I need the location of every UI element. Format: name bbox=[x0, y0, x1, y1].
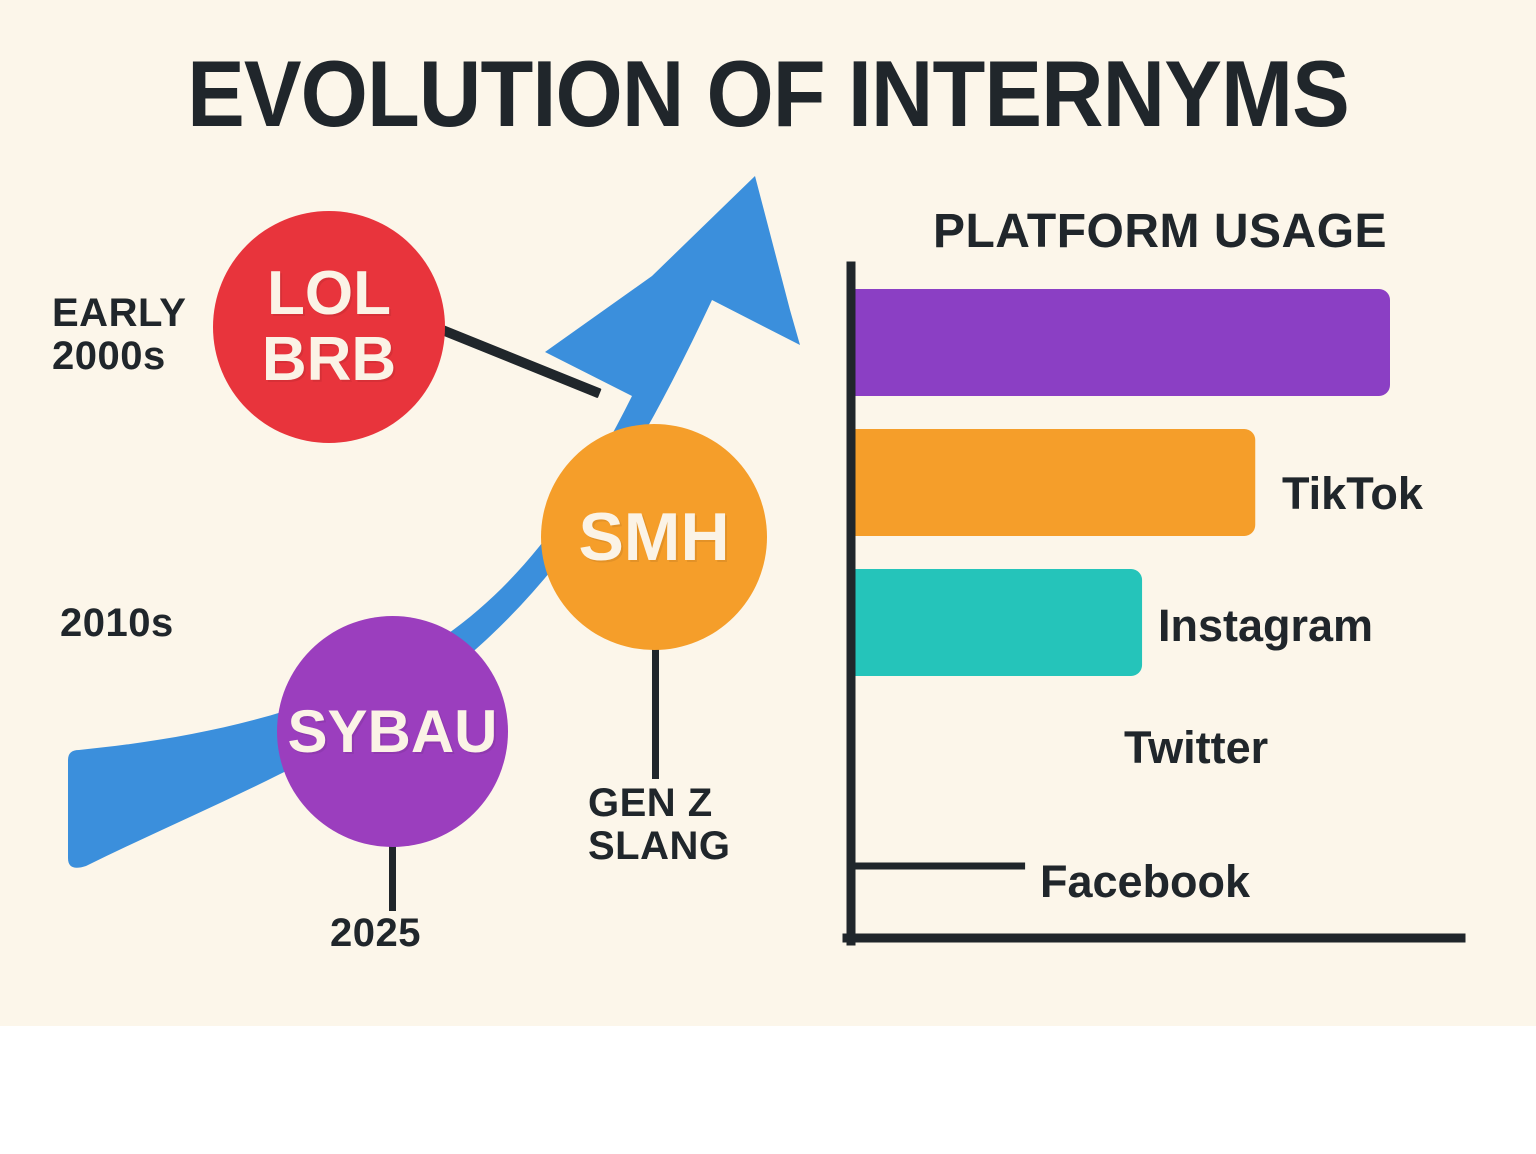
bar-label-tiktok: TikTok bbox=[1282, 468, 1423, 520]
bar-label-instagram: Instagram bbox=[1158, 600, 1373, 652]
chart-bar-tiktok[interactable] bbox=[851, 289, 1390, 396]
chart-bar-twitter[interactable] bbox=[851, 569, 1142, 676]
chart-bar-instagram[interactable] bbox=[851, 429, 1255, 536]
bar-label-twitter: Twitter bbox=[1124, 722, 1268, 774]
infographic-poster: EVOLUTION OF INTERNYMS EARLY 2000s 2010s… bbox=[0, 0, 1536, 1154]
chart-bars bbox=[851, 289, 1390, 866]
poster-canvas: EVOLUTION OF INTERNYMS EARLY 2000s 2010s… bbox=[0, 0, 1536, 1026]
bar-label-facebook: Facebook bbox=[1040, 856, 1250, 908]
